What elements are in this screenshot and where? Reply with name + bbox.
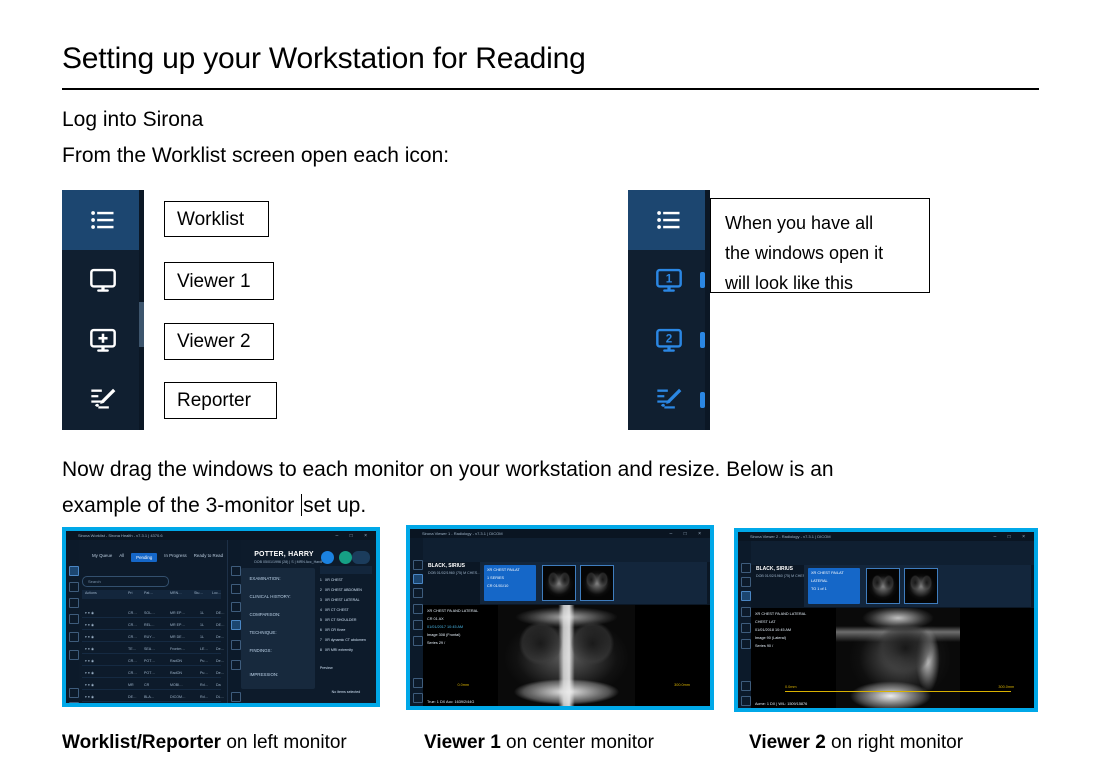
preview-empty: No items selected [320, 690, 372, 697]
sidebar-item-viewer-1-open[interactable]: 1 [628, 250, 710, 310]
caption-rest: on left monitor [221, 732, 347, 753]
series-card-selected[interactable]: XR CHEST PA/LAT 1 SERIES CR 01/01/10 [484, 565, 536, 601]
svg-text:1: 1 [666, 273, 673, 286]
rail-doc-icon[interactable] [741, 623, 751, 633]
rail-monitor-1-icon[interactable] [231, 584, 241, 594]
window-controls[interactable]: – □ × [336, 533, 373, 539]
table-row[interactable]: ▾ ● ◉ CR… POT… RadON Pu… De… [82, 658, 221, 666]
intro-line-worklist: From the Worklist screen open each icon: [62, 144, 449, 168]
series-strip[interactable]: XR CHEST PA/LAT 1 SERIES CR 01/01/10 [480, 562, 707, 604]
rail-help-icon[interactable] [69, 688, 79, 698]
rail-report-icon[interactable] [413, 604, 423, 614]
window-titlebar: Sirona Worklist - Sirona Health - v7.3.1… [66, 531, 376, 540]
report-section-examination: EXAMINATION: [249, 576, 280, 581]
reporter-patient-name: POTTER, HARRY [254, 551, 314, 558]
rail-monitor-2-icon[interactable] [231, 602, 241, 612]
window-titlebar: Sirona Viewer 1 - Radiology - v7.3.1 | D… [410, 529, 710, 538]
window-controls[interactable]: – □ × [670, 531, 707, 537]
tab-my-queue[interactable]: My Queue [92, 553, 112, 562]
rail-monitor-2-icon[interactable] [69, 598, 79, 608]
instruction-line-2a: example of the 3-monitor [62, 494, 300, 517]
reporter-rail [228, 540, 241, 703]
callout-label-reporter: Reporter [164, 382, 277, 419]
series-title: XR CHEST PA/LAT [487, 568, 520, 572]
template-row[interactable]: 2 XR CHEST ABDOMEN [320, 588, 372, 595]
sidebar-item-reporter-open[interactable] [628, 370, 710, 430]
table-row[interactable]: ▾ ● ◉ TE… SEA… Frontm… LE… De… [82, 646, 221, 654]
rail-help-icon[interactable] [741, 681, 751, 691]
report-section-technique: TECHNIQUE: [249, 630, 276, 635]
frontal-chest-xray-image [498, 605, 636, 706]
rail-list-icon[interactable] [231, 566, 241, 576]
caption-viewer-2: Viewer 2 on right monitor [749, 732, 963, 754]
ruler-label-right: 300.0mm [998, 685, 1014, 689]
caption-worklist-reporter: Worklist/Reporter on left monitor [62, 732, 347, 754]
series-sub-2: TO 1 of 1 [811, 587, 827, 591]
report-section-impression: IMPRESSION: [249, 672, 278, 677]
caption-rest: on center monitor [501, 732, 654, 753]
column-study: Stu… [194, 591, 203, 595]
monitor-plus-icon [89, 326, 117, 354]
rail-report-icon[interactable] [741, 607, 751, 617]
viewer-toolbar[interactable] [410, 538, 710, 562]
ruler-label-left: 0.0mm [457, 683, 469, 687]
series-title: XR CHEST PA/LAT [811, 571, 844, 575]
annotation-study: XR CHEST PA AND LATERAL [427, 609, 478, 613]
annotation-view: CR 01 AX [427, 617, 444, 621]
table-row[interactable]: ▾ ● ◉ CR… LOB… CT Chest C… DL… [82, 706, 221, 707]
table-row[interactable]: ▾ ● ◉ CR… REL… MR EP… 1L DE… [82, 622, 221, 630]
measurement-ruler [785, 691, 1011, 692]
reporter-action-2[interactable] [339, 551, 352, 564]
table-row[interactable]: ▾ ● ◉ CR… SOL… MR EP… 1L DE… [82, 610, 221, 618]
report-sign-icon [89, 386, 117, 414]
tab-in-progress[interactable]: In Progress [164, 553, 186, 562]
rail-monitor-2-icon[interactable] [413, 588, 423, 598]
rail-profile-icon[interactable] [69, 702, 79, 707]
table-row[interactable]: ▾ ● ◉ CR… RUY… MR DE… 1L De… [82, 634, 221, 642]
caption-viewer-1: Viewer 1 on center monitor [424, 732, 654, 754]
reporter-action-1[interactable] [321, 551, 334, 564]
rail-monitor-1-icon[interactable] [69, 582, 79, 592]
worklist-table-header: Actions Pri Pat… MRN… Stu… Loc… [82, 590, 221, 599]
page-title: Setting up your Workstation for Reading [62, 42, 586, 76]
series-thumbnail-lateral[interactable] [580, 565, 614, 601]
rail-doc-icon[interactable] [413, 620, 423, 630]
viewer-rail [738, 541, 751, 708]
rail-list-icon[interactable] [69, 566, 79, 576]
template-row[interactable]: 4 XR CT CHEST [320, 608, 372, 615]
thumbnail-xray-image [581, 566, 613, 600]
rail-user-icon[interactable] [69, 650, 79, 660]
templates-header [320, 566, 372, 574]
rail-settings-icon[interactable] [741, 696, 751, 706]
rail-settings-icon[interactable] [413, 693, 423, 703]
sidebar-item-reporter[interactable] [62, 370, 144, 430]
caption-bold: Worklist/Reporter [62, 732, 221, 753]
annotation-series: Series 29 / [427, 641, 445, 645]
window-title: Sirona Viewer 1 - Radiology - v7.3.1 | D… [422, 531, 503, 536]
sidebar-item-viewer-2-open[interactable]: 2 [628, 310, 710, 370]
ruler-label-right: 300.0mm [674, 683, 690, 687]
table-row[interactable]: ▾ ● ◉ CR… POT… RadON Pu… De… [82, 670, 221, 678]
rail-profile-icon[interactable] [231, 706, 241, 707]
annotation-view: CHEST LAT [755, 620, 776, 624]
thumbnail-xray-image [543, 566, 575, 600]
thumbnail-xray-image [905, 569, 937, 603]
rail-doc-icon[interactable] [231, 640, 241, 650]
worklist-search-input[interactable]: Search [82, 576, 169, 587]
window-titlebar: Sirona Viewer 2 - Radiology - v7.3.1 | D… [738, 532, 1034, 541]
search-placeholder: Search [88, 579, 101, 584]
list-icon [655, 206, 683, 234]
series-sub-1: 1 SERIES [487, 576, 504, 580]
caption-bold: Viewer 2 [749, 732, 826, 753]
callout-label-viewer-1: Viewer 1 [164, 262, 274, 300]
template-row[interactable]: 5 XR CT SHOULDER [320, 618, 372, 625]
lateral-chest-xray-image [836, 608, 961, 708]
viewer-patient-name: BLACK, SIRIUS [428, 563, 465, 569]
column-pri: Pri [128, 591, 132, 595]
series-sub-1: LATERAL [811, 579, 828, 583]
list-icon [89, 206, 117, 234]
viewer-patient-meta: DOB 01/02/1960 (75) M CHES… [428, 571, 481, 575]
viewer-2-screenshot[interactable]: Sirona Viewer 2 - Radiology - v7.3.1 | D… [734, 528, 1038, 712]
svg-text:2: 2 [666, 333, 673, 346]
series-thumbnail-frontal[interactable] [866, 568, 900, 604]
series-card-selected[interactable]: XR CHEST PA/LAT LATERAL TO 1 of 1 [808, 568, 860, 604]
annotation-study: XR CHEST PA AND LATERAL [755, 612, 806, 616]
annotation-series: Series 90 / [755, 644, 773, 648]
series-thumbnail-lateral[interactable] [904, 568, 938, 604]
sidebar-right-mockup: 1 2 [628, 190, 710, 430]
rail-list-icon[interactable] [741, 563, 751, 573]
worklist-pane: My Queue All Pending In Progress Ready t… [66, 540, 227, 703]
monitor-1-icon: 1 [655, 266, 683, 294]
note-line-1: When you have all [725, 208, 929, 238]
reporter-patient-meta: DOB 05/01/1996 (28) | S | MRN Acc_HardP… [254, 560, 327, 564]
table-row[interactable]: ▾ ● ◉ MR CR MOBI… Rd… Da [82, 682, 221, 690]
template-row[interactable]: 8 XR MRI extremity [320, 648, 372, 655]
monitor-2-icon: 2 [655, 326, 683, 354]
reporter-pane: POTTER, HARRY DOB 05/01/1996 (28) | S | … [227, 540, 376, 703]
rail-help-icon[interactable] [413, 678, 423, 688]
rail-report-icon[interactable] [231, 620, 241, 630]
thumbnail-xray-image [867, 569, 899, 603]
rail-monitor-1-icon[interactable] [741, 577, 751, 587]
viewer-patient-name: BLACK, SIRIUS [756, 566, 793, 572]
viewer-image-canvas[interactable]: XR CHEST PA AND LATERAL CR 01 AX 01/01/2… [423, 605, 710, 706]
viewer-image-canvas[interactable]: XR CHEST PA AND LATERAL CHEST LAT 01/01/… [751, 608, 1034, 708]
caption-rest: on right monitor [826, 732, 963, 753]
report-editor[interactable]: EXAMINATION: CLINICAL HISTORY: COMPARISO… [241, 568, 315, 689]
note-box-all-windows-open: When you have all the windows open it wi… [710, 198, 930, 293]
monitor-icon [89, 266, 117, 294]
instruction-paragraph: Now drag the windows to each monitor on … [62, 452, 1022, 524]
template-row[interactable]: 3 XR CHEST LATERAL [320, 598, 372, 605]
viewer-toolbar[interactable] [738, 541, 1034, 565]
intro-line-login: Log into Sirona [62, 108, 203, 132]
window-title: Sirona Worklist - Sirona Health - v7.3.1… [78, 533, 163, 538]
table-row[interactable]: ▾ ● ◉ DE… BLA… DICOM… Rd… DL… [82, 694, 221, 702]
sidebar-left-mockup [62, 190, 144, 430]
window-title: Sirona Viewer 2 - Radiology - v7.3.1 | D… [750, 534, 831, 539]
tab-all[interactable]: All [119, 553, 124, 562]
report-section-findings: FINDINGS: [249, 648, 271, 653]
note-line-3: will look like this [725, 268, 929, 298]
viewer-footer: Acme: 1 DX | W/L: 1509/15876 [755, 702, 807, 706]
reporter-action-3[interactable] [352, 551, 370, 564]
column-loc: Loc… [212, 591, 221, 595]
callout-label-worklist: Worklist [164, 201, 269, 237]
ruler-label-left: 0.0mm [785, 685, 797, 689]
rail-list-icon[interactable] [413, 560, 423, 570]
rail-monitor-2-icon[interactable] [741, 591, 751, 601]
note-line-2: the windows open it [725, 238, 929, 268]
series-sub-2: CR 01/01/10 [487, 584, 508, 588]
viewer-1-screenshot[interactable]: Sirona Viewer 1 - Radiology - v7.3.1 | D… [406, 525, 714, 710]
sidebar-item-worklist-open[interactable] [628, 190, 710, 250]
worklist-rail [66, 540, 79, 703]
series-strip[interactable]: XR CHEST PA/LAT LATERAL TO 1 of 1 [804, 565, 1031, 607]
viewer-footer: True: 1 DX Acc: 1639/2/44G [427, 700, 474, 704]
sidebar-scrollbar-track[interactable] [139, 190, 144, 430]
sidebar-scrollbar-thumb[interactable] [139, 302, 144, 347]
annotation-datetime: 01/01/2017 10:45 AM [427, 625, 463, 629]
rail-report-icon[interactable] [69, 614, 79, 624]
title-divider [62, 88, 1039, 90]
column-mrn: MRN… [170, 591, 182, 595]
rail-doc-icon[interactable] [69, 632, 79, 642]
worklist-reporter-screenshot[interactable]: Sirona Worklist - Sirona Health - v7.3.1… [62, 527, 380, 707]
callout-label-viewer-2: Viewer 2 [164, 323, 274, 360]
template-row[interactable]: 6 XR CR Knee [320, 628, 372, 635]
report-sign-icon [655, 386, 683, 414]
caption-bold: Viewer 1 [424, 732, 501, 753]
viewer-patient-meta: DOB 01/02/1960 (75) M CHES… [756, 574, 809, 578]
report-section-comparison: COMPARISON: [249, 612, 280, 617]
column-patient: Pat… [144, 591, 153, 595]
sidebar-item-viewer-1[interactable] [62, 250, 144, 310]
text-cursor [301, 494, 302, 516]
viewer-rail [410, 538, 423, 706]
preview-label: Preview [320, 666, 372, 673]
sidebar-item-worklist[interactable] [62, 190, 144, 250]
rail-user-icon[interactable] [741, 639, 751, 649]
instruction-line-1: Now drag the windows to each monitor on … [62, 458, 834, 481]
worklist-tabs[interactable]: My Queue All Pending In Progress Ready t… [92, 553, 245, 562]
tab-pending[interactable]: Pending [131, 553, 157, 562]
sidebar-item-viewer-2[interactable] [62, 310, 144, 370]
template-row[interactable]: 7 XR dynamic CT abdomen [320, 638, 372, 645]
rail-monitor-1-icon[interactable] [413, 574, 423, 584]
annotation-image: Image 308 (Frontal) [427, 633, 460, 637]
column-actions: Actions [85, 591, 97, 595]
series-thumbnail-frontal[interactable] [542, 565, 576, 601]
instruction-line-2b: set up. [303, 494, 366, 517]
tab-ready-to-read[interactable]: Ready to Read [194, 553, 223, 562]
template-row[interactable]: 1 XR CHEST [320, 578, 372, 585]
annotation-image: Image 90 (Lateral) [755, 636, 786, 640]
rail-help-icon[interactable] [231, 692, 241, 702]
window-controls[interactable]: – □ × [994, 534, 1031, 540]
rail-user-icon[interactable] [231, 660, 241, 670]
rail-user-icon[interactable] [413, 636, 423, 646]
annotation-datetime: 01/01/2018 10:45 AM [755, 628, 791, 632]
report-section-history: CLINICAL HISTORY: [249, 594, 290, 599]
